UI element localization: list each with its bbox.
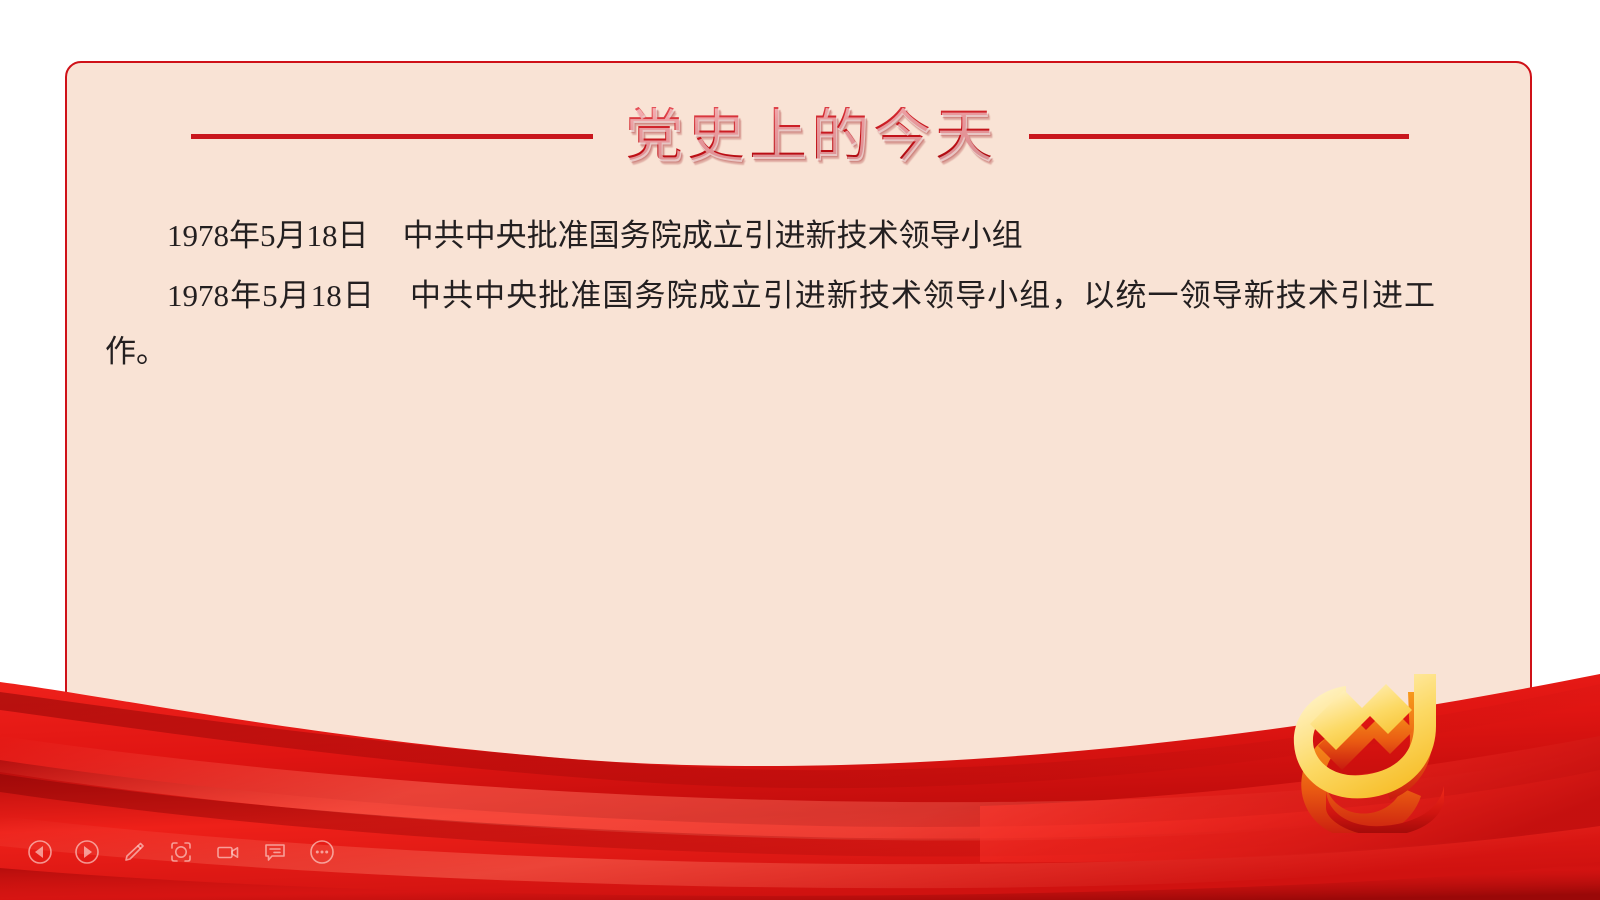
more-options-icon — [309, 839, 335, 865]
speech-bubble-icon — [262, 839, 288, 865]
presentation-slide: 党史上的今天 1978年5月18日中共中央批准国务院成立引进新技术领导小组 19… — [0, 0, 1600, 900]
title-row: 党史上的今天 — [0, 96, 1600, 176]
previous-slide-icon — [27, 839, 53, 865]
presentation-toolbar[interactable] — [22, 832, 340, 872]
title-rule-right — [1029, 134, 1409, 139]
body-text: 1978年5月18日中共中央批准国务院成立引进新技术领导小组 1978年5月18… — [105, 208, 1435, 380]
video-camera-button[interactable] — [210, 834, 246, 870]
previous-slide-button[interactable] — [22, 834, 58, 870]
paragraph-headline: 1978年5月18日中共中央批准国务院成立引进新技术领导小组 — [105, 208, 1435, 264]
spotlight-button[interactable] — [163, 834, 199, 870]
video-camera-icon — [215, 839, 241, 865]
page-title: 党史上的今天 — [625, 107, 997, 165]
paragraph-text: 中共中央批准国务院成立引进新技术领导小组 — [403, 218, 1023, 253]
spotlight-icon — [168, 839, 194, 865]
more-options-button[interactable] — [304, 834, 340, 870]
paragraph-date: 1978年5月18日 — [167, 218, 369, 253]
title-rule-left — [191, 134, 593, 139]
next-slide-button[interactable] — [69, 834, 105, 870]
annotation-button[interactable] — [257, 834, 293, 870]
paragraph-date: 1978年5月18日 — [167, 278, 375, 313]
next-slide-icon — [74, 839, 100, 865]
paragraph-body: 1978年5月18日中共中央批准国务院成立引进新技术领导小组，以统一领导新技术引… — [105, 268, 1435, 380]
pen-button[interactable] — [116, 834, 152, 870]
pen-icon — [121, 839, 147, 865]
party-emblem — [1286, 668, 1496, 833]
